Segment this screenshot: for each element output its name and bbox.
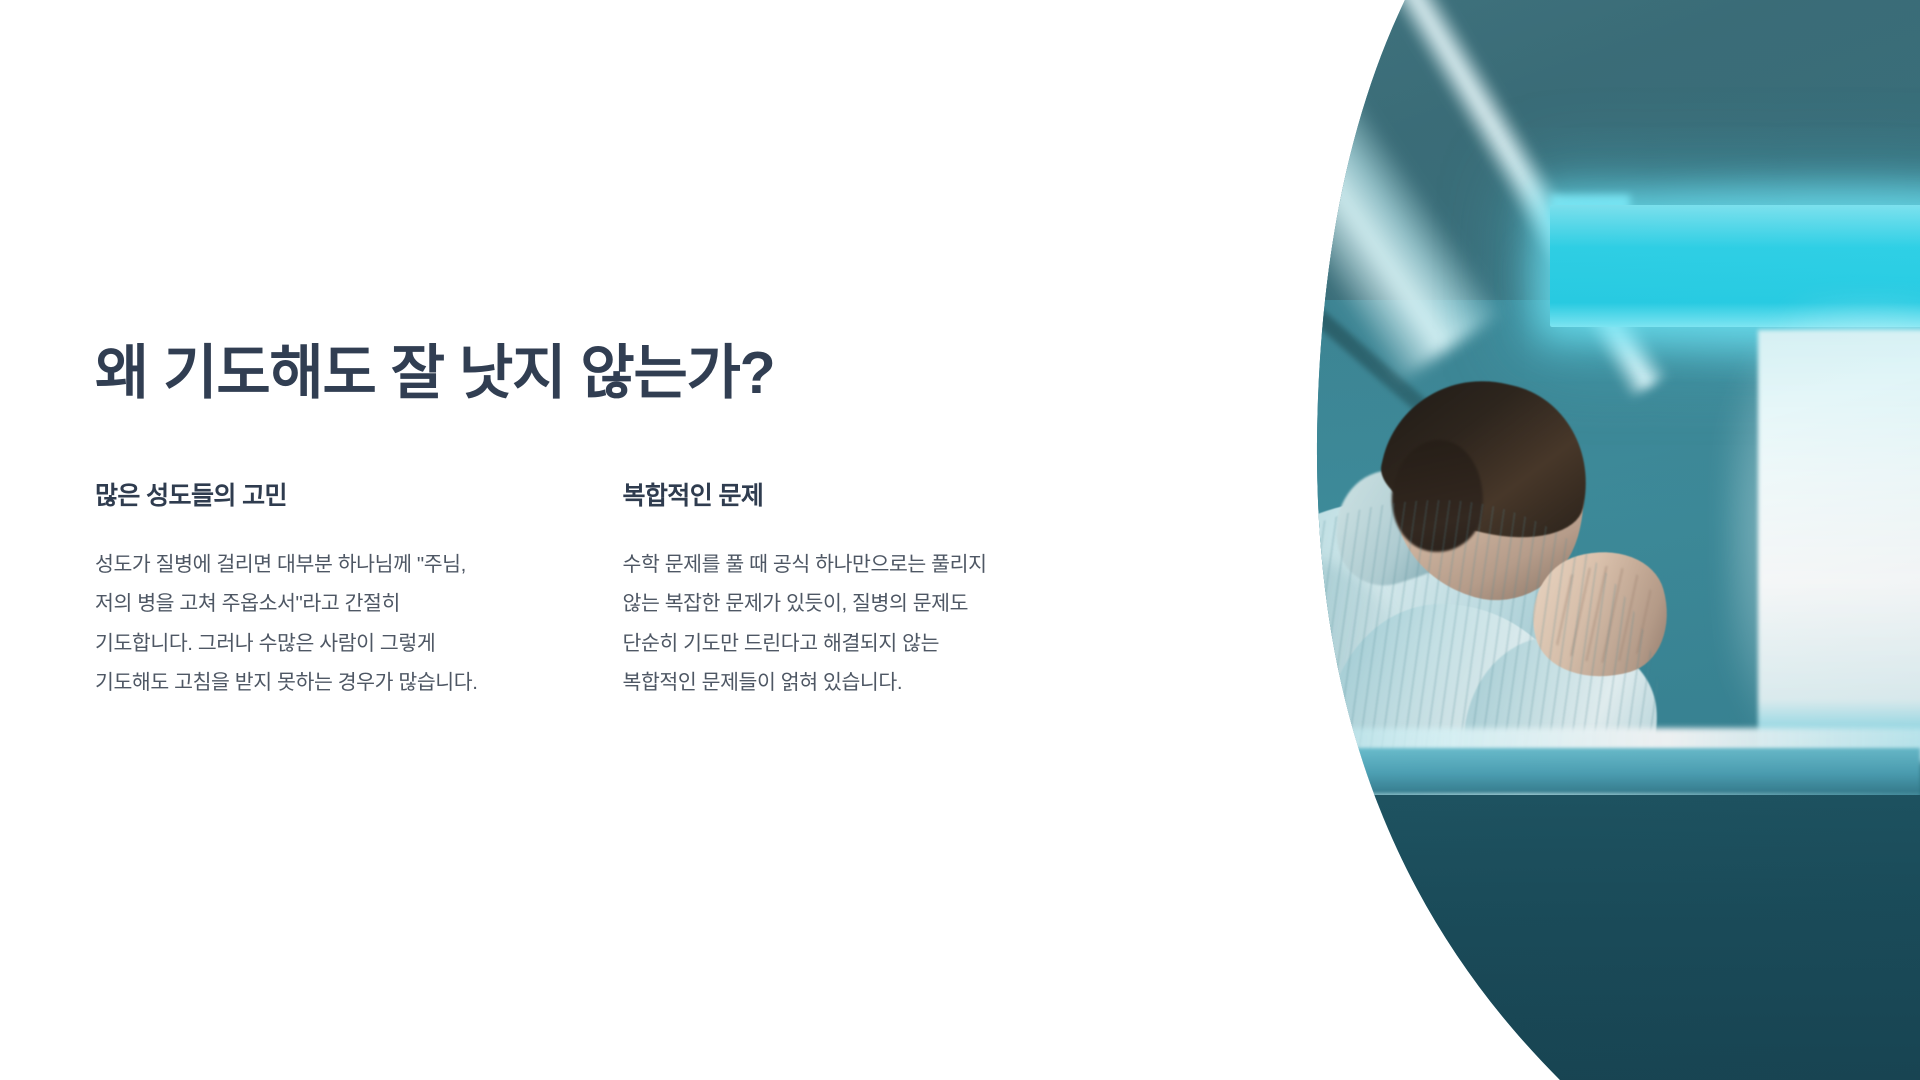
slide-root: 왜 기도해도 잘 낫지 않는가? 많은 성도들의 고민 성도가 질병에 걸리면 … — [0, 0, 1920, 1080]
column-right: 복합적인 문제 수학 문제를 풀 때 공식 하나만으로는 풀리지 않는 복잡한 … — [623, 480, 1106, 703]
praying-person-photo — [1130, 0, 1920, 1080]
column-left: 많은 성도들의 고민 성도가 질병에 걸리면 대부분 하나님께 "주님, 저의 … — [95, 480, 578, 703]
page-title: 왜 기도해도 잘 낫지 않는가? — [95, 340, 775, 408]
photo-panel — [1130, 0, 1920, 1080]
column-right-body: 수학 문제를 풀 때 공식 하나만으로는 풀리지 않는 복잡한 문제가 있듯이,… — [623, 545, 1015, 703]
column-right-heading: 복합적인 문제 — [623, 480, 1106, 513]
two-column-body: 많은 성도들의 고민 성도가 질병에 걸리면 대부분 하나님께 "주님, 저의 … — [95, 480, 1105, 703]
text-content: 왜 기도해도 잘 낫지 않는가? 많은 성도들의 고민 성도가 질병에 걸리면 … — [95, 0, 1105, 1080]
column-left-body: 성도가 질병에 걸리면 대부분 하나님께 "주님, 저의 병을 고쳐 주옵소서"… — [95, 545, 495, 703]
column-left-heading: 많은 성도들의 고민 — [95, 480, 578, 513]
photo-desk-front — [1130, 795, 1920, 1080]
side-light-glow — [1130, 566, 1170, 644]
